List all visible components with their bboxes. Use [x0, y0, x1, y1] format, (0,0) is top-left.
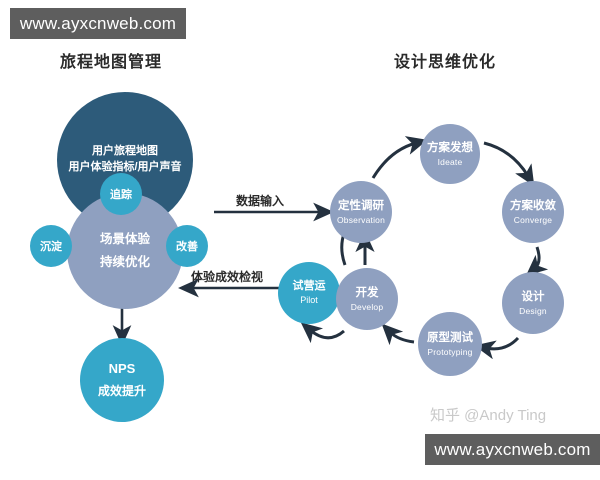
cycle-node-observation: 定性调研 Observation — [330, 181, 392, 243]
pilot-line-cn: 试营运 — [293, 280, 326, 294]
scene-experience-line1: 场景体验 — [100, 232, 150, 248]
flow-label-data-input: 数据输入 — [236, 192, 284, 209]
watermark-author: 知乎 @Andy Ting — [430, 404, 546, 425]
section-title-right: 设计思维优化 — [394, 48, 496, 72]
cycle-node-ideate-en: Ideate — [438, 157, 463, 168]
arc-design-to-prototyping — [486, 338, 518, 349]
arc-develop-to-pilot — [310, 330, 344, 338]
flow-label-experience-review: 体验成效检视 — [191, 268, 263, 285]
nps-line2: 成效提升 — [98, 384, 146, 399]
watermark-banner-bottom: www.ayxcnweb.com — [425, 434, 600, 465]
scene-experience-line2: 持续优化 — [100, 255, 150, 271]
badge-trace: 追踪 — [100, 173, 142, 215]
cycle-node-prototyping-cn: 原型测试 — [427, 331, 473, 345]
cycle-node-converge: 方案收敛 Converge — [502, 181, 564, 243]
cycle-node-converge-cn: 方案收敛 — [510, 199, 556, 213]
badge-improve: 改善 — [166, 225, 208, 267]
arc-converge-to-design — [535, 247, 539, 268]
arc-observation-to-ideate — [373, 143, 416, 178]
cycle-node-observation-en: Observation — [337, 215, 385, 226]
watermark-banner-top: www.ayxcnweb.com — [10, 8, 186, 39]
cycle-node-design-en: Design — [519, 306, 547, 317]
diagram-canvas: www.ayxcnweb.com 知乎 @Andy Ting www.ayxcn… — [0, 0, 600, 480]
cycle-node-develop: 开发 Develop — [336, 268, 398, 330]
nps-line1: NPS — [109, 361, 136, 377]
cycle-node-prototyping: 原型测试 Prototyping — [418, 312, 482, 376]
cycle-node-ideate-cn: 方案发想 — [427, 141, 473, 155]
arc-prototyping-to-develop — [390, 332, 414, 342]
cycle-node-develop-en: Develop — [351, 302, 384, 313]
cycle-node-prototyping-en: Prototyping — [427, 347, 472, 358]
cycle-node-develop-cn: 开发 — [356, 286, 379, 300]
cycle-node-observation-cn: 定性调研 — [338, 199, 384, 213]
cycle-node-ideate: 方案发想 Ideate — [420, 124, 480, 184]
nps-circle: NPS 成效提升 — [80, 338, 164, 422]
cycle-node-converge-en: Converge — [514, 215, 552, 226]
badge-settle: 沉淀 — [30, 225, 72, 267]
pilot-circle: 试营运 Pilot — [278, 262, 340, 324]
journey-map-line1: 用户旅程地图 — [92, 145, 158, 159]
arc-ideate-to-converge — [484, 143, 528, 176]
section-title-left: 旅程地图管理 — [60, 48, 162, 72]
pilot-line-en: Pilot — [300, 295, 318, 306]
cycle-node-design-cn: 设计 — [522, 290, 545, 304]
cycle-node-design: 设计 Design — [502, 272, 564, 334]
